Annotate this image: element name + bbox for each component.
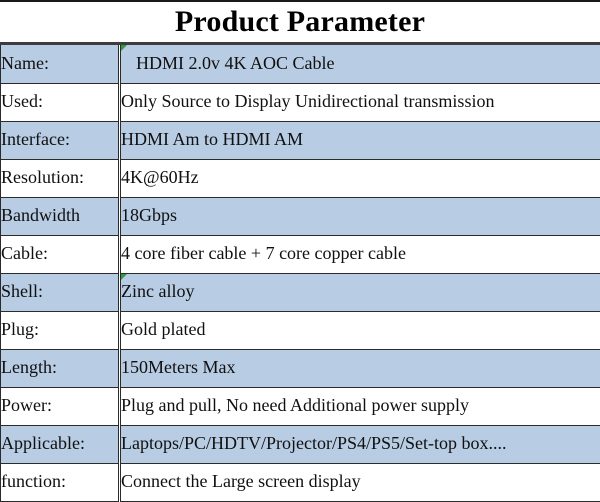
- spec-label: Resolution:: [1, 159, 120, 197]
- spec-value-text: HDMI 2.0v 4K AOC Cable: [136, 53, 335, 73]
- table-row: Name:HDMI 2.0v 4K AOC Cable: [1, 45, 600, 83]
- table-row: Plug:Gold plated: [1, 311, 600, 349]
- table-row: Applicable:Laptops/PC/HDTV/Projector/PS4…: [1, 425, 600, 463]
- spec-value-text: 4 core fiber cable + 7 core copper cable: [121, 243, 406, 263]
- product-parameter-sheet: Product Parameter Name:HDMI 2.0v 4K AOC …: [0, 0, 600, 496]
- spec-label: Shell:: [1, 273, 120, 311]
- spec-value: HDMI 2.0v 4K AOC Cable: [120, 45, 600, 83]
- spec-value: 18Gbps: [120, 197, 600, 235]
- spec-value-text: Plug and pull, No need Additional power …: [121, 395, 469, 415]
- title-band: Product Parameter: [0, 0, 600, 45]
- spec-value-text: HDMI Am to HDMI AM: [121, 129, 303, 149]
- spec-label: Plug:: [1, 311, 120, 349]
- spec-value: Gold plated: [120, 311, 600, 349]
- spec-value-text: Laptops/PC/HDTV/Projector/PS4/PS5/Set-to…: [121, 433, 507, 453]
- page-title: Product Parameter: [175, 7, 425, 37]
- spec-value-text: 150Meters Max: [121, 357, 235, 377]
- spec-value: HDMI Am to HDMI AM: [120, 121, 600, 159]
- spec-value: 150Meters Max: [120, 349, 600, 387]
- spec-label: Interface:: [1, 121, 120, 159]
- spec-label: Applicable:: [1, 425, 120, 463]
- spec-value-text: Connect the Large screen display: [121, 471, 361, 491]
- comment-marker-icon: [121, 45, 127, 51]
- spec-label: Power:: [1, 387, 120, 425]
- table-row: Resolution:4K@60Hz: [1, 159, 600, 197]
- spec-label: Cable:: [1, 235, 120, 273]
- spec-label: Used:: [1, 83, 120, 121]
- spec-value: Laptops/PC/HDTV/Projector/PS4/PS5/Set-to…: [120, 425, 600, 463]
- spec-label: Name:: [1, 45, 120, 83]
- spec-value-text: Only Source to Display Unidirectional tr…: [121, 91, 494, 111]
- spec-value: Zinc alloy: [120, 273, 600, 311]
- comment-marker-icon: [121, 274, 127, 280]
- spec-value: Connect the Large screen display: [120, 463, 600, 501]
- spec-label: function:: [1, 463, 120, 501]
- spec-table-body: Name:HDMI 2.0v 4K AOC CableUsed:Only Sou…: [1, 45, 600, 501]
- table-row: Cable:4 core fiber cable + 7 core copper…: [1, 235, 600, 273]
- table-row: Length:150Meters Max: [1, 349, 600, 387]
- spec-value-text: 4K@60Hz: [121, 167, 199, 187]
- spec-label: Length:: [1, 349, 120, 387]
- table-row: Interface:HDMI Am to HDMI AM: [1, 121, 600, 159]
- spec-value: Plug and pull, No need Additional power …: [120, 387, 600, 425]
- spec-value-text: Zinc alloy: [121, 281, 194, 301]
- spec-value-text: Gold plated: [121, 319, 205, 339]
- spec-label: Bandwidth: [1, 197, 120, 235]
- spec-value: 4K@60Hz: [120, 159, 600, 197]
- table-row: Power:Plug and pull, No need Additional …: [1, 387, 600, 425]
- table-row: function:Connect the Large screen displa…: [1, 463, 600, 501]
- table-row: Used:Only Source to Display Unidirection…: [1, 83, 600, 121]
- spec-value: 4 core fiber cable + 7 core copper cable: [120, 235, 600, 273]
- spec-value: Only Source to Display Unidirectional tr…: [120, 83, 600, 121]
- table-row: Shell:Zinc alloy: [1, 273, 600, 311]
- spec-value-text: 18Gbps: [121, 205, 177, 225]
- spec-table: Name:HDMI 2.0v 4K AOC CableUsed:Only Sou…: [0, 45, 600, 502]
- table-row: Bandwidth18Gbps: [1, 197, 600, 235]
